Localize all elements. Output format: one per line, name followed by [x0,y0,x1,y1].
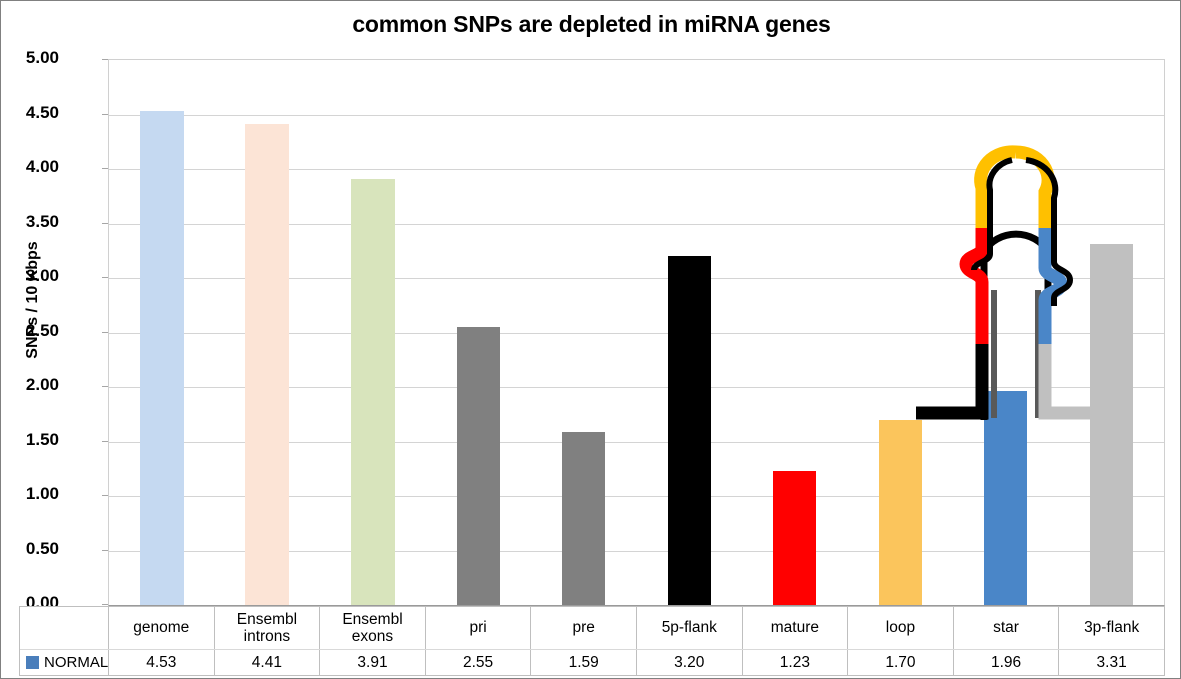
bar-3p-flank[interactable] [1090,244,1133,605]
table-value-cell: 4.41 [215,650,321,675]
segment-5p-flank [916,344,982,413]
table-category-cell: 3p-flank [1059,607,1164,649]
bar-loop[interactable] [879,420,922,605]
table-corner-cell [20,607,109,649]
y-axis-tick-label: 1.50 [0,430,59,450]
segment-loop-right [1016,152,1048,228]
gridline [109,115,1164,116]
chart-title: common SNPs are depleted in miRNA genes [1,11,1181,38]
legend-label: NORMAL [44,654,108,671]
legend-swatch-icon [26,656,39,669]
bar-pri[interactable] [457,327,500,605]
segment-mature [966,228,982,344]
y-axis-tick-label: 2.00 [0,375,59,395]
y-axis-tick-label: 5.00 [0,48,59,68]
bar-genome[interactable] [140,111,184,605]
table-category-cell: pre [531,607,637,649]
table-category-cell: genome [109,607,215,649]
y-axis-title: SNPs / 10 Kbps [24,220,42,380]
table-value-row: NORMAL 4.534.413.912.551.593.201.231.701… [20,649,1164,675]
table-value-cell: 1.96 [954,650,1060,675]
bar-pre[interactable] [562,432,605,605]
table-value-cell: 2.55 [426,650,532,675]
bar-ensembl-exons[interactable] [351,179,395,605]
table-category-row: genomeEnsemblintronsEnsemblexonspripre5p… [20,607,1164,649]
y-axis-tick-label: 1.00 [0,484,59,504]
table-value-cell: 4.53 [109,650,215,675]
table-category-cell: loop [848,607,954,649]
data-table: genomeEnsemblintronsEnsemblexonspripre5p… [19,606,1165,676]
y-axis-tick-label: 2.50 [0,321,59,341]
table-category-cell: mature [743,607,849,649]
table-value-cell: 3.20 [637,650,743,675]
bar-mature[interactable] [773,471,816,605]
table-category-cell: 5p-flank [637,607,743,649]
table-value-cell: 1.70 [848,650,954,675]
table-category-cell: pri [426,607,532,649]
y-axis-tick-label: 4.50 [0,103,59,123]
chart-container: common SNPs are depleted in miRNA genes … [0,0,1181,679]
y-axis-tick-label: 3.00 [0,266,59,286]
plot-area [108,59,1165,606]
table-value-cell: 1.23 [743,650,849,675]
table-value-cell: 1.59 [531,650,637,675]
bar-5p-flank[interactable] [668,256,711,605]
table-value-cell: 3.31 [1059,650,1164,675]
table-value-cell: 3.91 [320,650,426,675]
bar-star[interactable] [984,391,1027,605]
hairpin-accent-outline [974,160,1070,306]
segment-loop-left [981,152,1016,228]
y-axis-tick-label: 3.50 [0,212,59,232]
table-category-cell: star [954,607,1060,649]
bar-ensembl-introns[interactable] [245,124,289,605]
y-axis-tick-label: 4.00 [0,157,59,177]
legend-entry-normal[interactable]: NORMAL [20,650,109,675]
segment-star [1045,228,1061,344]
y-axis-tick-label: 0.50 [0,539,59,559]
table-category-cell: Ensemblexons [320,607,426,649]
table-category-cell: Ensemblintrons [215,607,321,649]
